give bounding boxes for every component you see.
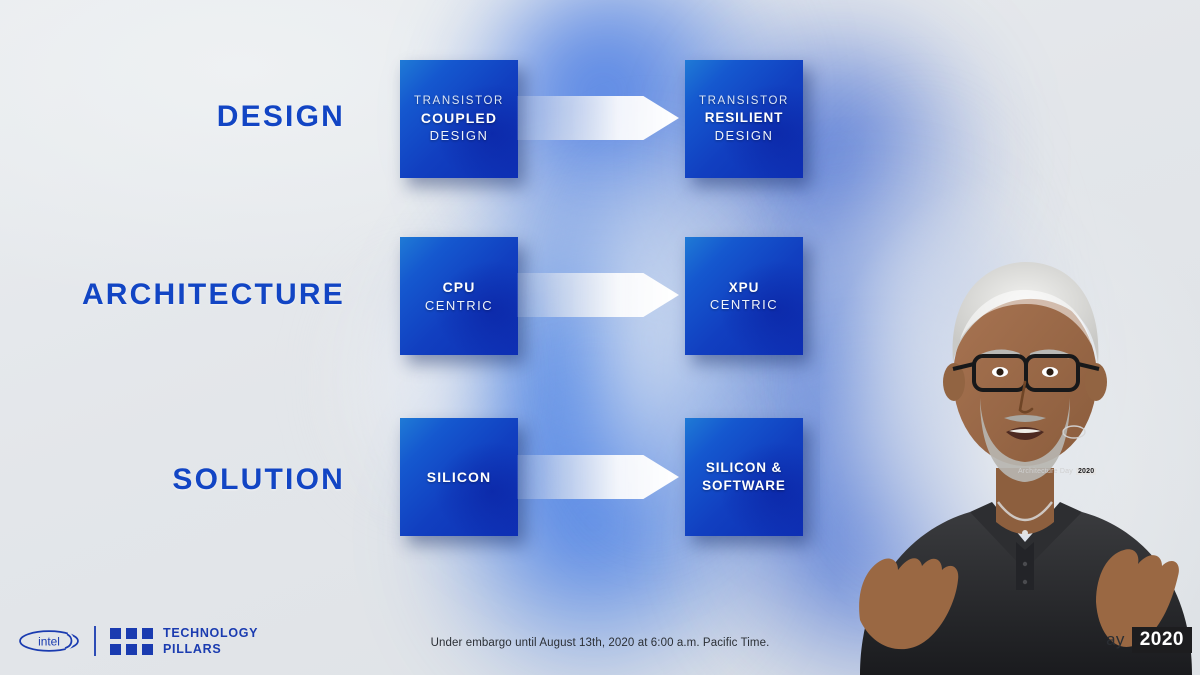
pillar-line: RESILIENT: [705, 109, 784, 127]
background-light-streak: [800, 90, 1040, 590]
event-badge: ay 2020: [1106, 627, 1192, 653]
pillar-box-architecture-from: CPU CENTRIC: [400, 237, 518, 355]
presenter-face: [953, 290, 1097, 466]
shirt-logo-year: 2020: [1076, 468, 1096, 475]
pillar-line: XPU: [729, 279, 759, 297]
shirt-logo-text-group: Architecture Day 2020: [1018, 468, 1096, 475]
presenter-beard: [980, 398, 1070, 482]
pillar-line: CENTRIC: [710, 296, 778, 313]
right-chevron-arrow-icon: [517, 448, 679, 506]
pillar-line: COUPLED: [421, 109, 497, 127]
pillar-line: CENTRIC: [425, 297, 493, 314]
presenter-photo: [820, 150, 1200, 675]
right-chevron-arrow-icon: [517, 89, 679, 147]
pillar-line: DESIGN: [715, 127, 774, 144]
row-label-design: DESIGN: [0, 100, 345, 134]
row-label-solution: SOLUTION: [0, 463, 345, 497]
presenter-glasses: [953, 356, 1099, 390]
row-label-architecture: ARCHITECTURE: [0, 278, 345, 312]
pillar-box-solution-to: SILICON & SOFTWARE: [685, 418, 803, 536]
pillar-line: DESIGN: [430, 127, 489, 144]
embargo-notice: Under embargo until August 13th, 2020 at…: [0, 637, 1200, 649]
presenter-hair: [953, 262, 1099, 364]
pillar-box-design-from: TRANSISTOR COUPLED DESIGN: [400, 60, 518, 178]
pillar-line: CPU: [443, 278, 476, 296]
pillar-line: SILICON: [427, 468, 491, 486]
pillar-box-architecture-to: XPU CENTRIC: [685, 237, 803, 355]
event-name-partial: ay: [1106, 630, 1125, 650]
pillar-line: SOFTWARE: [702, 477, 786, 495]
pillar-box-solution-from: SILICON: [400, 418, 518, 536]
presentation-slide: DESIGN TRANSISTOR COUPLED DESIGN TRANSIS…: [0, 0, 1200, 675]
presenter-shirt-logo: [1063, 426, 1085, 438]
right-chevron-arrow-icon: [517, 266, 679, 324]
shirt-logo-event-name: Architecture Day: [1018, 468, 1073, 475]
pillar-line: SILICON &: [706, 459, 782, 477]
pillar-line: TRANSISTOR: [699, 94, 789, 109]
pillar-line: TRANSISTOR: [414, 94, 504, 109]
pillar-box-design-to: TRANSISTOR RESILIENT DESIGN: [685, 60, 803, 178]
event-year-badge: 2020: [1132, 627, 1192, 653]
